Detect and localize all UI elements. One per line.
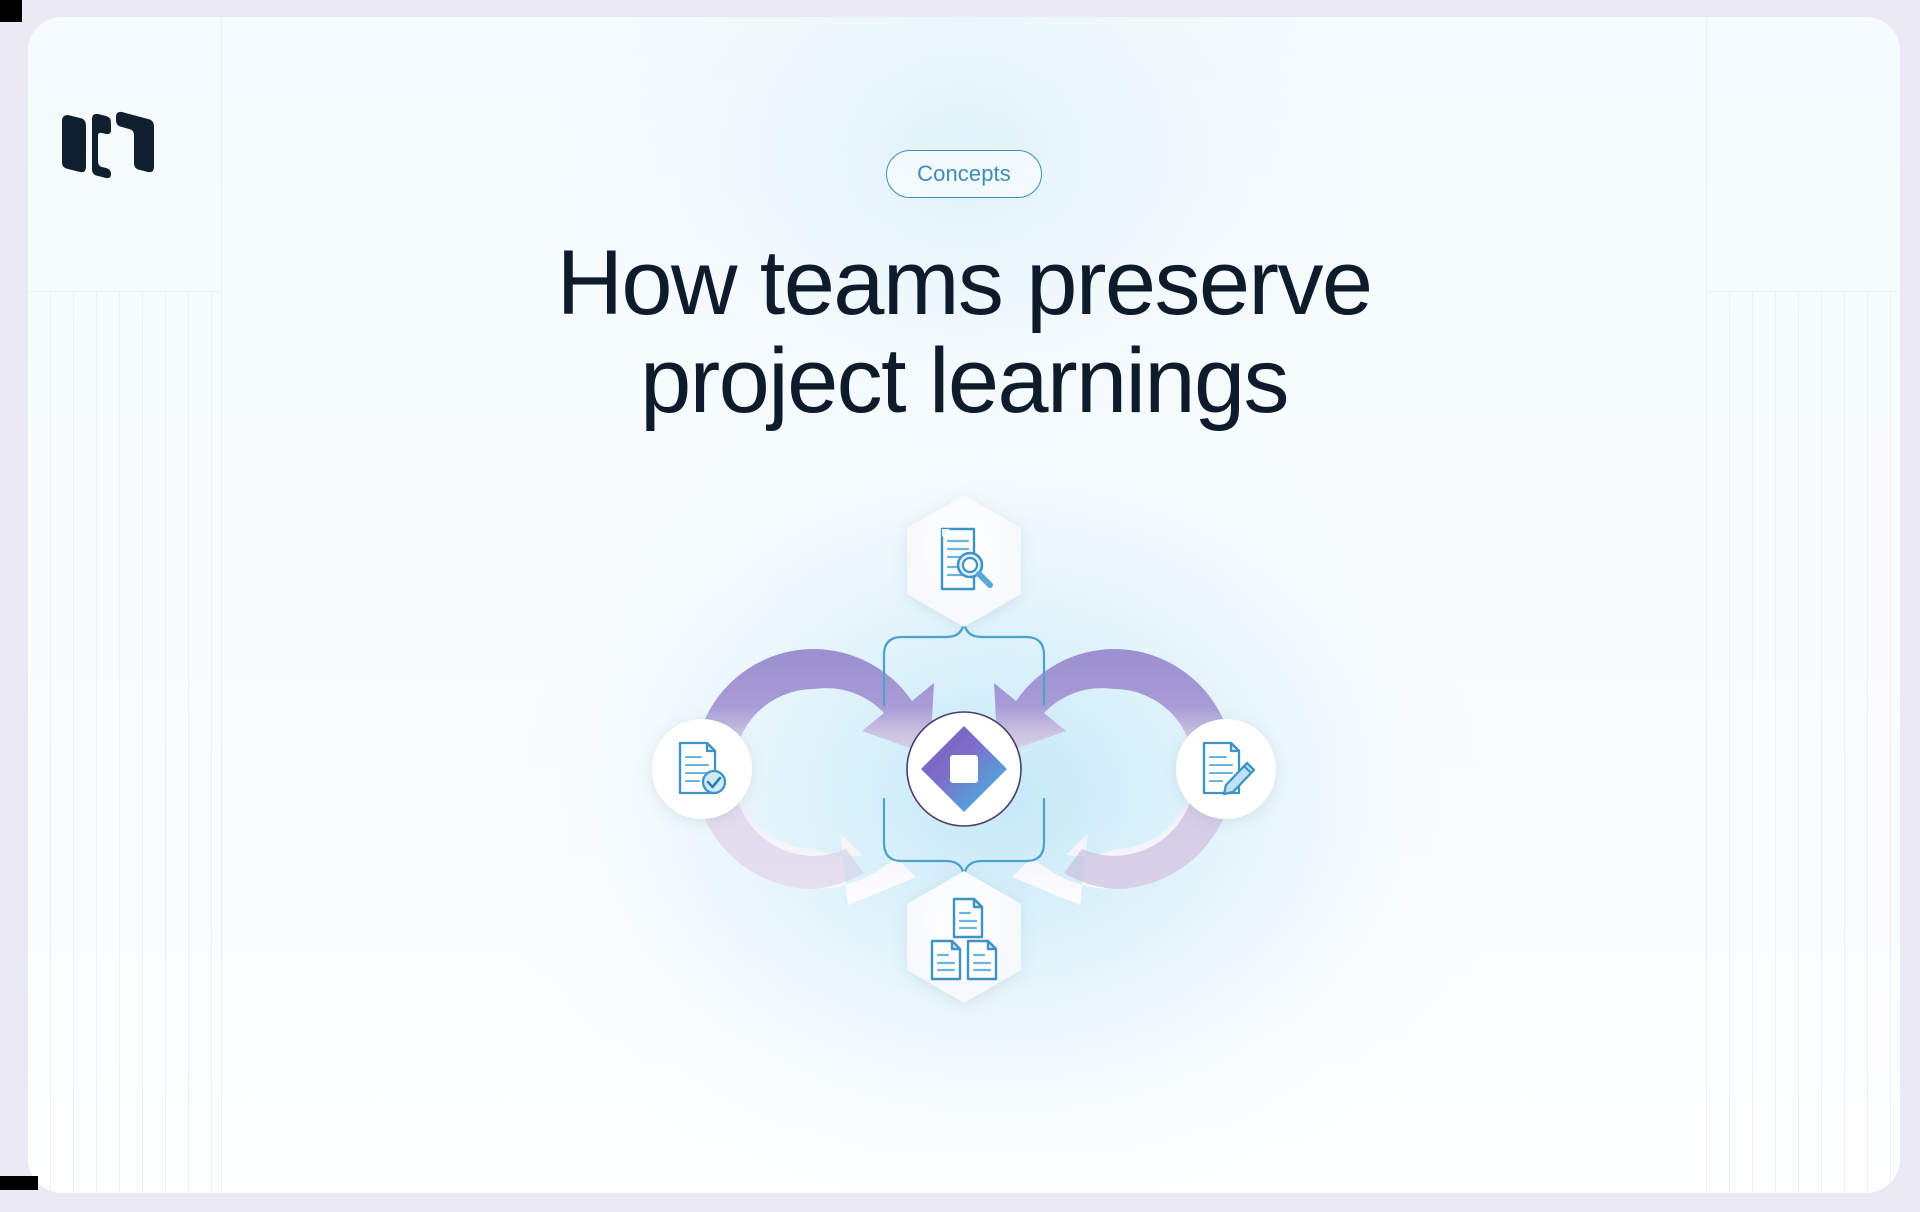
slide-card: Concepts How teams preserve project lear… <box>28 17 1900 1193</box>
content-column: Concepts How teams preserve project lear… <box>222 17 1706 1193</box>
category-badge[interactable]: Concepts <box>886 150 1042 198</box>
page-title-line-1: How teams preserve <box>557 232 1372 334</box>
left-stripe-rail <box>28 291 221 1193</box>
right-stripe-rail <box>1707 291 1900 1193</box>
right-vertical-rule <box>1706 17 1707 1193</box>
left-rail-divider <box>28 291 221 292</box>
corner-mark-bottom-left <box>0 1176 38 1190</box>
page-title: How teams preserve project learnings <box>484 234 1444 431</box>
brand-logo-icon[interactable] <box>56 105 166 183</box>
page-title-line-2: project learnings <box>640 330 1288 432</box>
knowledge-loop-diagram <box>634 469 1294 1029</box>
page-root: Concepts How teams preserve project lear… <box>0 0 1920 1212</box>
right-rail-divider <box>1707 291 1900 292</box>
corner-mark-top-left <box>0 0 22 22</box>
